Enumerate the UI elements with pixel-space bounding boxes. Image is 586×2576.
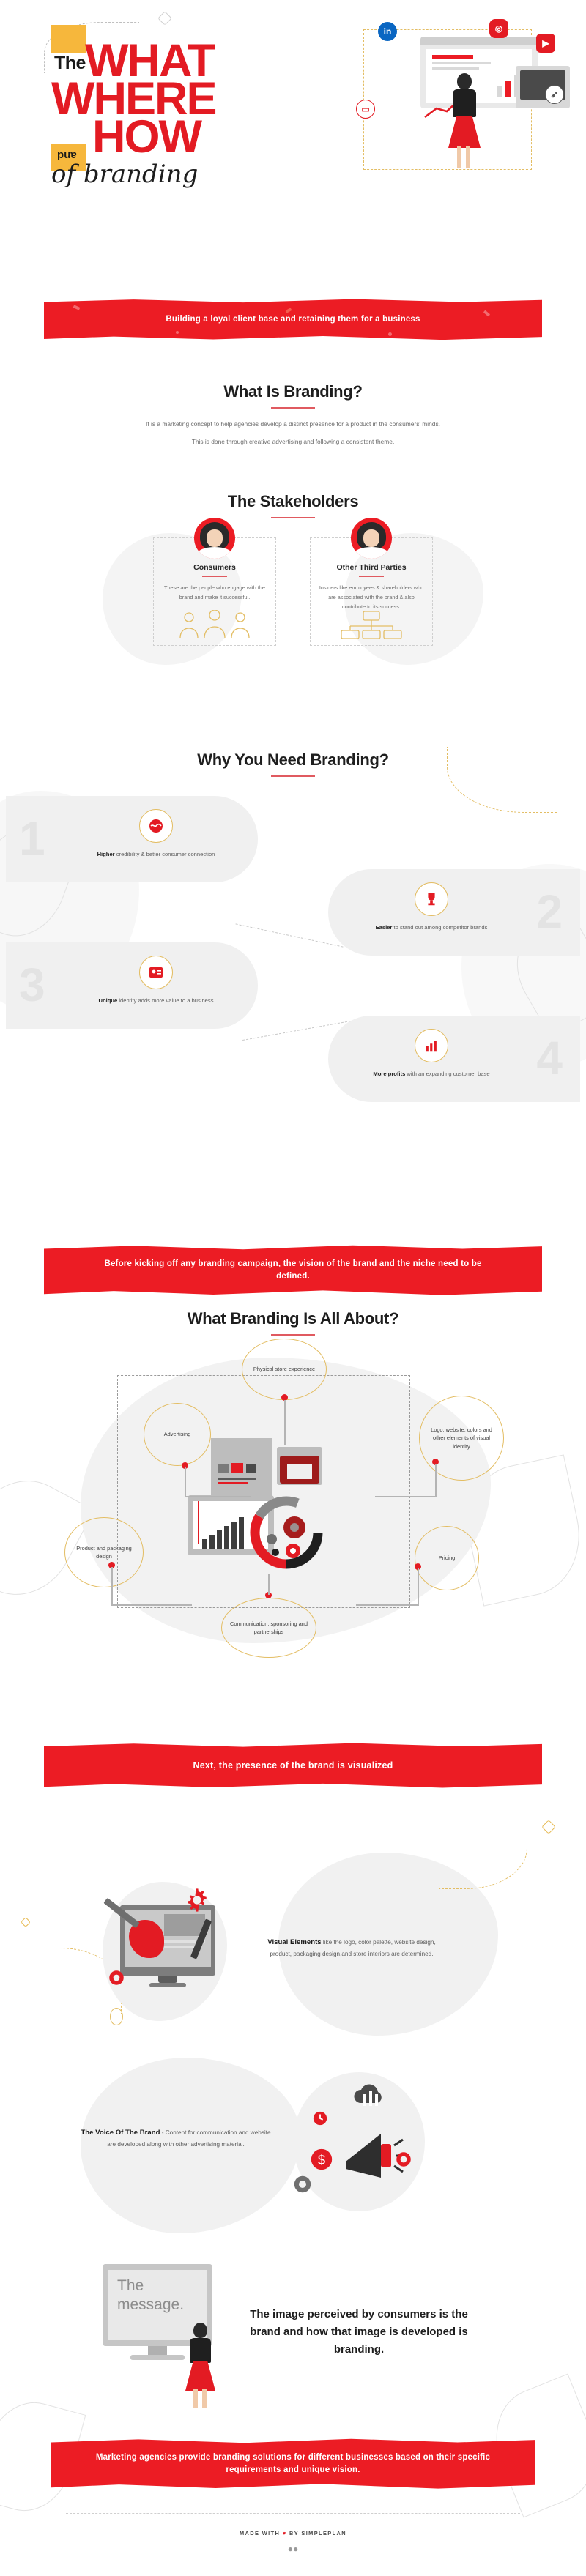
cursor-icon: ➶ <box>545 85 564 104</box>
people-group-icon <box>174 610 255 639</box>
why-card-3: 3 Unique identity adds more value to a b… <box>6 942 258 1029</box>
hero-illustration: in ◎ ▶ ▭ ➶ <box>350 21 570 189</box>
hero-section: The WHAT WHERE and HOW of branding <box>0 0 586 234</box>
handshake-icon <box>139 809 173 843</box>
title-underline <box>271 517 315 518</box>
banner-3-text: Next, the presence of the brand is visua… <box>73 1759 513 1772</box>
why-branding-section: Why You Need Branding? 1 Higher credibil… <box>0 751 586 1118</box>
diagram-bubble-advertising: Advertising <box>144 1403 211 1466</box>
diagram-center-illustration <box>183 1438 344 1570</box>
person-illustration <box>182 2323 220 2408</box>
diagram-bubble-packaging: Product and packaging design <box>64 1517 144 1587</box>
branding-diagram: Physical store experience Advertising Lo… <box>0 1343 586 1665</box>
banner-2: Before kicking off any branding campaign… <box>44 1245 542 1295</box>
hero-line-how: HOW <box>92 117 201 157</box>
hero-the-label: The <box>54 53 86 74</box>
why-number: 1 <box>19 815 45 862</box>
why-text-1: Higher credibility & better consumer con… <box>86 849 226 859</box>
banner-3: Next, the presence of the brand is visua… <box>44 1743 542 1788</box>
gear-icon <box>292 2173 314 2195</box>
footer-credit: MADE WITH ♥ BY SIMPLEPLAN <box>0 2530 586 2536</box>
banner-1-text: Building a loyal client base and retaini… <box>73 313 513 326</box>
stakeholders-title: The Stakeholders <box>0 492 586 511</box>
linkedin-icon: in <box>378 22 397 41</box>
why-number: 4 <box>536 1035 563 1082</box>
simpleplan-logo: ●● <box>0 2544 586 2554</box>
diagram-bubble-visual-identity: Logo, website, colors and other elements… <box>419 1396 504 1481</box>
voice-of-brand-section: The Voice Of The Brand - Content for com… <box>0 2065 586 2211</box>
why-card-4: 4 More profits with an expanding custome… <box>328 1016 580 1102</box>
all-about-section: What Branding Is All About? <box>0 1309 586 1665</box>
message-statement: The image perceived by consumers is the … <box>249 2306 469 2359</box>
stakeholder-description: Insiders like employees & shareholders w… <box>318 583 425 611</box>
design-monitor-icon <box>88 1875 256 2021</box>
stakeholder-description: These are the people who engage with the… <box>161 583 268 602</box>
why-number: 2 <box>536 888 563 935</box>
monitor-titlebar <box>420 37 538 45</box>
why-branding-cards: 1 Higher credibility & better consumer c… <box>0 796 586 1118</box>
currency-icon: $ <box>309 2147 334 2172</box>
banner-4-wrapper: Marketing agencies provide branding solu… <box>51 2438 535 2489</box>
why-card-2: 2 Easier to stand out among competitor b… <box>328 869 580 956</box>
voice-of-brand-block: The Voice Of The Brand - Content for com… <box>0 2065 586 2211</box>
banner-2-wrapper: Before kicking off any branding campaign… <box>44 1245 542 1295</box>
bar-chart-money-icon <box>415 1029 448 1062</box>
visual-elements-section: Visual Elements like the logo, color pal… <box>0 1875 586 2021</box>
name-underline <box>202 576 227 577</box>
why-card-1: 1 Higher credibility & better consumer c… <box>6 796 258 882</box>
avatar <box>351 518 392 559</box>
visual-elements-block: Visual Elements like the logo, color pal… <box>0 1875 586 2021</box>
trophy-icon <box>415 882 448 916</box>
stakeholders-section: The Stakeholders Consumers These are the… <box>0 492 586 646</box>
megaphone-icon: $ <box>271 2065 439 2211</box>
hero-script-subtitle: of branding <box>51 160 198 189</box>
gear-icon <box>394 2150 413 2169</box>
why-text-2: Easier to stand out among competitor bra… <box>362 923 501 932</box>
heart-icon: ♥ <box>283 2530 287 2536</box>
stakeholder-card-consumers: Consumers These are the people who engag… <box>153 537 276 646</box>
banner-3-wrapper: Next, the presence of the brand is visua… <box>44 1743 542 1788</box>
yellow-square-accent <box>51 25 86 53</box>
banner-4: Marketing agencies provide branding solu… <box>51 2438 535 2489</box>
message-section: The message. The image perceived by cons… <box>0 2255 586 2409</box>
id-card-icon <box>139 956 173 989</box>
svg-text:$: $ <box>318 2152 325 2167</box>
laptop-illustration <box>516 66 570 108</box>
instagram-icon: ◎ <box>489 19 508 38</box>
gear-icon <box>185 1888 209 1913</box>
diagram-bubble-communication: Communication, sponsoring and partnershi… <box>221 1598 316 1658</box>
monitor-icon: ▭ <box>356 100 375 119</box>
what-is-branding-section: What Is Branding? It is a marketing conc… <box>0 382 586 447</box>
screen-text-line-1: The <box>117 2277 144 2295</box>
screen-text-line-2: message. <box>117 2296 184 2314</box>
avatar <box>194 518 235 559</box>
why-number: 3 <box>19 961 45 1008</box>
youtube-icon: ▶ <box>536 34 555 53</box>
what-is-branding-paragraph-2: This is done through creative advertisin… <box>121 436 465 447</box>
diagram-bubble-physical-store: Physical store experience <box>242 1339 327 1400</box>
clock-icon <box>312 2110 328 2126</box>
visual-elements-text: Visual Elements like the logo, color pal… <box>256 1936 447 1960</box>
gear-icon <box>107 1968 126 1987</box>
stakeholder-cards: Consumers These are the people who engag… <box>0 537 586 646</box>
what-is-branding-paragraph-1: It is a marketing concept to help agenci… <box>136 419 450 430</box>
banner-4-text: Marketing agencies provide branding solu… <box>95 2452 491 2476</box>
banner-2-text: Before kicking off any branding campaign… <box>88 1258 498 1282</box>
infographic-page: The WHAT WHERE and HOW of branding <box>0 0 586 2576</box>
cloud-upload-icon <box>350 2081 391 2110</box>
name-underline <box>359 576 384 577</box>
message-screen-illustration: The message. <box>88 2255 249 2409</box>
why-text-4: More profits with an expanding customer … <box>362 1069 501 1079</box>
org-chart-icon <box>331 610 412 639</box>
title-underline <box>271 1334 315 1336</box>
diamond-icon <box>541 1820 556 1834</box>
message-block: The message. The image perceived by cons… <box>0 2255 586 2409</box>
person-illustration <box>444 73 485 168</box>
why-text-3: Unique identity adds more value to a bus… <box>86 996 226 1005</box>
what-is-branding-title: What Is Branding? <box>0 382 586 401</box>
voice-of-brand-text: The Voice Of The Brand - Content for com… <box>81 2126 271 2151</box>
banner-1: Building a loyal client base and retaini… <box>44 299 542 340</box>
hero-and-label: and <box>57 149 77 162</box>
stakeholder-name: Other Third Parties <box>318 563 425 572</box>
stakeholder-name: Consumers <box>161 563 268 572</box>
diagram-bubble-pricing: Pricing <box>415 1526 479 1590</box>
title-underline <box>271 407 315 409</box>
all-about-title: What Branding Is All About? <box>0 1309 586 1328</box>
stakeholder-card-third-parties: Other Third Parties Insiders like employ… <box>310 537 433 646</box>
banner-1-wrapper: Building a loyal client base and retaini… <box>44 299 542 340</box>
footer-section: MADE WITH ♥ BY SIMPLEPLAN ●● <box>0 2513 586 2554</box>
title-underline <box>271 775 315 777</box>
gear-circle-icon <box>248 1494 325 1571</box>
